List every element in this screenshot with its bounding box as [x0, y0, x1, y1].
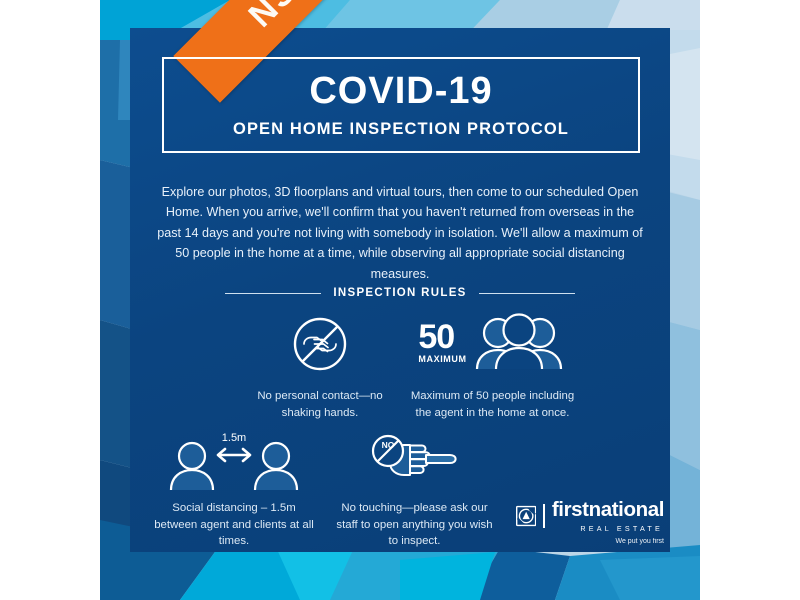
maximum-number: 50: [418, 322, 466, 353]
no-touching-hand-icon: NO: [332, 428, 497, 490]
page-title: COVID-19: [309, 72, 492, 110]
rule-caption: No personal contact—no shaking hands.: [248, 388, 392, 421]
logo-subtitle: REAL ESTATE: [552, 524, 664, 533]
logo-word-national: national: [589, 498, 664, 521]
infographic-canvas: NSW COVID-19 OPEN HOME INSPECTION PROTOC…: [0, 0, 800, 600]
logo-divider: [543, 504, 545, 528]
divider-line-right: [479, 293, 575, 294]
divider-label: INSPECTION RULES: [333, 287, 466, 299]
rule-no-touching: NO No touching—please ask our staff to o…: [332, 428, 497, 550]
no-handshake-icon: [248, 312, 392, 374]
rule-caption: Maximum of 50 people including the agent…: [405, 388, 580, 421]
rule-social-distancing: 1.5m Social distancing – 1.5m between ag…: [150, 428, 318, 550]
title-frame: COVID-19 OPEN HOME INSPECTION PROTOCOL: [162, 57, 640, 153]
rule-caption: No touching—please ask our staff to open…: [332, 500, 497, 550]
rule-maximum-people: 50 MAXIMUM Maximum of 50 people includin…: [405, 310, 580, 421]
distance-label: 1.5m: [222, 432, 246, 444]
intro-paragraph: Explore our photos, 3D floorplans and vi…: [155, 182, 645, 284]
two-people-distance-icon: 1.5m: [150, 428, 318, 490]
state-ribbon-label: NSW: [241, 0, 329, 35]
maximum-number-label: MAXIMUM: [418, 354, 466, 364]
first-national-logo: firstnational REAL ESTATE We put you fir…: [516, 500, 664, 545]
logo-word-first: first: [552, 498, 589, 521]
first-national-mark: [516, 503, 536, 529]
group-of-people-icon: [471, 311, 567, 376]
inspection-rules-divider: INSPECTION RULES: [225, 283, 575, 303]
page-subtitle: OPEN HOME INSPECTION PROTOCOL: [233, 121, 569, 138]
rule-caption: Social distancing – 1.5m between agent a…: [150, 500, 318, 550]
no-badge-label: NO: [381, 440, 394, 450]
rule-no-personal-contact: No personal contact—no shaking hands.: [248, 312, 392, 421]
divider-line-left: [225, 293, 321, 294]
logo-tagline: We put you first: [516, 538, 664, 545]
maximum-number-block: 50 MAXIMUM: [418, 322, 466, 365]
